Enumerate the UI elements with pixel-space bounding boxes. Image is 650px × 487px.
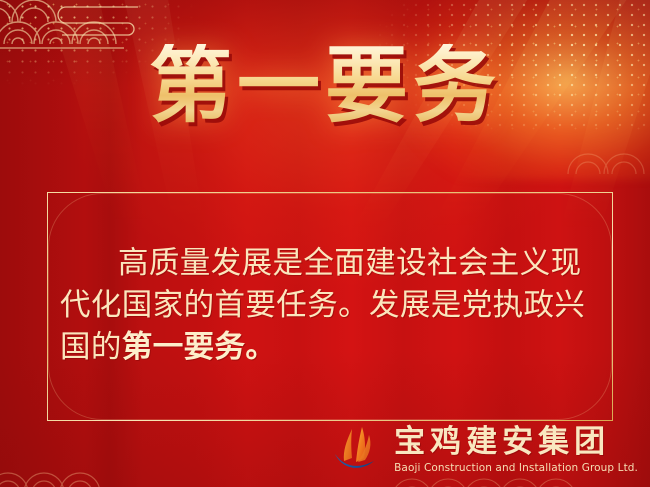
cloud-arc-pattern-icon bbox=[0, 443, 136, 487]
page-title: 第一要务 bbox=[149, 44, 501, 127]
quote-text-emphasis: 第一要务。 bbox=[122, 330, 277, 365]
logo-text-block: 宝鸡建安集团 Baoji Construction and Installati… bbox=[394, 427, 638, 474]
sail-flame-icon bbox=[331, 425, 385, 475]
cloud-arc-pattern-icon bbox=[566, 120, 650, 180]
company-name-en: Baoji Construction and Installation Grou… bbox=[394, 463, 638, 474]
rounded-line-ornament-icon bbox=[52, 2, 142, 36]
poster-title-area: 第一要务 bbox=[0, 44, 650, 127]
company-logo: 宝鸡建安集团 Baoji Construction and Installati… bbox=[331, 425, 638, 475]
quote-text: 高质量发展是全面建设社会主义现代化国家的首要任务。发展是党执政兴国的第一要务。 bbox=[60, 243, 605, 369]
company-name-cn: 宝鸡建安集团 bbox=[394, 427, 638, 458]
poster-canvas: 第一要务 高质量发展是全面建设社会主义现代化国家的首要任务。发展是党执政兴国的第… bbox=[0, 0, 650, 487]
